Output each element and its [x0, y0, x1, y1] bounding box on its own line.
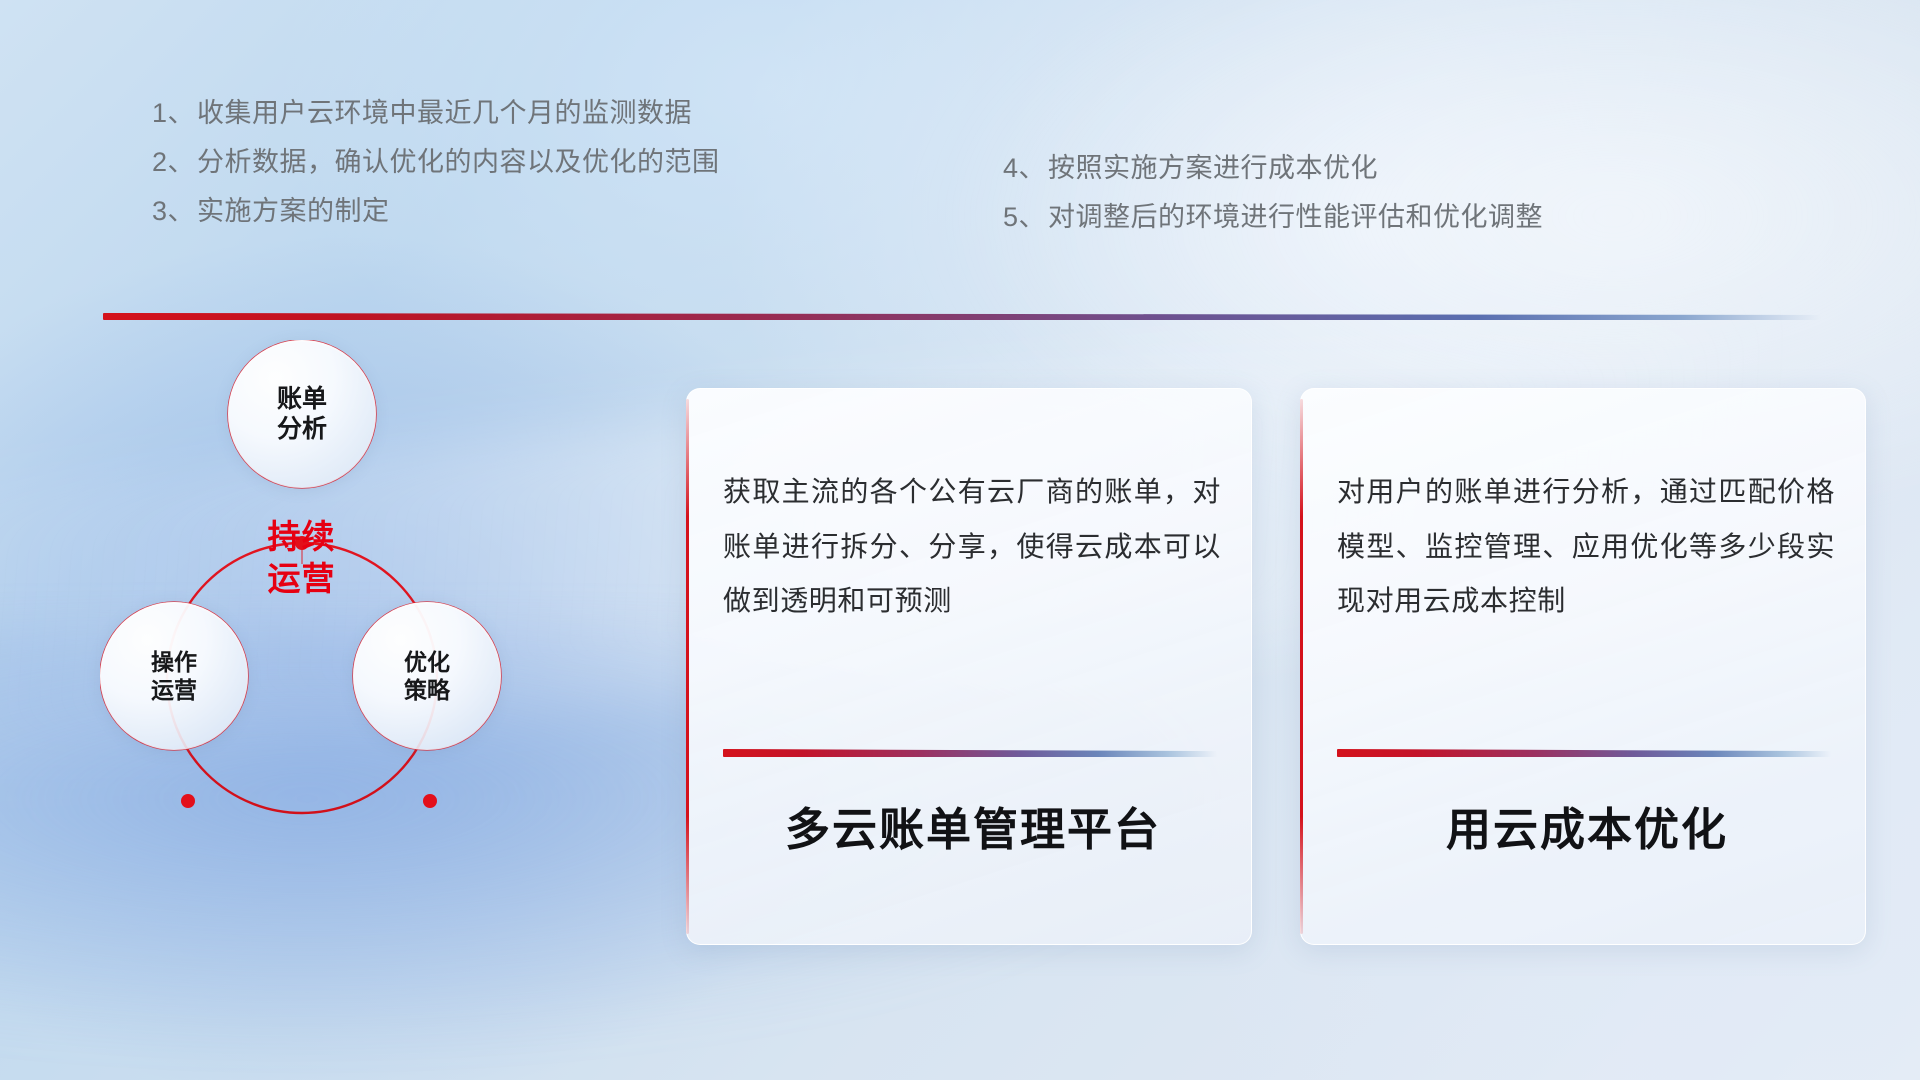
step-number: 2、 [152, 147, 195, 177]
step-text: 收集用户云环境中最近几个月的监测数据 [197, 98, 692, 128]
list-item: 3、实施方案的制定 [152, 198, 720, 225]
venn-bubble-operation[interactable]: 操作 运营 [100, 602, 248, 750]
step-number: 5、 [1003, 202, 1046, 232]
step-text: 按照实施方案进行成本优化 [1048, 153, 1378, 183]
card-title: 用云成本优化 [1335, 793, 1839, 858]
step-text: 实施方案的制定 [197, 196, 390, 226]
center-label-line2: 运营 [219, 558, 384, 600]
step-text: 对调整后的环境进行性能评估和优化调整 [1048, 202, 1543, 232]
card-divider-rule [723, 749, 1217, 757]
card-cloud-cost-optimization[interactable]: 对用户的账单进行分析，通过匹配价格模型、监控管理、应用优化等多少段实现对用云成本… [1300, 388, 1866, 945]
card-body-text: 对用户的账单进行分析，通过匹配价格模型、监控管理、应用优化等多少段实现对用云成本… [1337, 465, 1835, 629]
center-label-line1: 持续 [219, 516, 384, 558]
bubble-label-line1: 操作 [151, 648, 197, 676]
list-item: 2、分析数据，确认优化的内容以及优化的范围 [152, 149, 720, 176]
list-item: 1、收集用户云环境中最近几个月的监测数据 [152, 100, 720, 127]
venn-bubble-optimization-strategy[interactable]: 优化 策略 [353, 602, 501, 750]
steps-list-left: 1、收集用户云环境中最近几个月的监测数据 2、分析数据，确认优化的内容以及优化的… [152, 100, 720, 247]
venn-bubble-bill-analysis[interactable]: 账单 分析 [228, 340, 376, 488]
bubble-label-line1: 账单 [277, 384, 327, 415]
bubble-label-line2: 运营 [151, 676, 197, 704]
steps-list-right: 4、按照实施方案进行成本优化 5、对调整后的环境进行性能评估和优化调整 [1003, 155, 1543, 253]
step-text: 分析数据，确认优化的内容以及优化的范围 [197, 147, 720, 177]
slide-canvas: 1、收集用户云环境中最近几个月的监测数据 2、分析数据，确认优化的内容以及优化的… [0, 0, 1920, 1080]
list-item: 5、对调整后的环境进行性能评估和优化调整 [1003, 204, 1543, 231]
bubble-label-line1: 优化 [404, 648, 450, 676]
venn-center-label: 持续 运营 [219, 516, 384, 600]
card-title: 多云账单管理平台 [721, 793, 1225, 858]
step-number: 4、 [1003, 153, 1046, 183]
step-number: 1、 [152, 98, 195, 128]
card-divider-rule [1337, 749, 1831, 757]
card-body-text: 获取主流的各个公有云厂商的账单，对账单进行拆分、分享，使得云成本可以做到透明和可… [723, 465, 1221, 629]
step-number: 3、 [152, 196, 195, 226]
venn-diagram: 账单 分析 操作 运营 优化 策略 持续 运营 [100, 340, 620, 840]
bubble-label-line2: 分析 [277, 414, 327, 445]
section-divider-rule [103, 313, 1821, 320]
node-dot-bottom-right [423, 794, 437, 808]
card-multi-cloud-billing-platform[interactable]: 获取主流的各个公有云厂商的账单，对账单进行拆分、分享，使得云成本可以做到透明和可… [686, 388, 1252, 945]
bubble-label-line2: 策略 [404, 676, 450, 704]
list-item: 4、按照实施方案进行成本优化 [1003, 155, 1543, 182]
node-dot-bottom-left [181, 794, 195, 808]
